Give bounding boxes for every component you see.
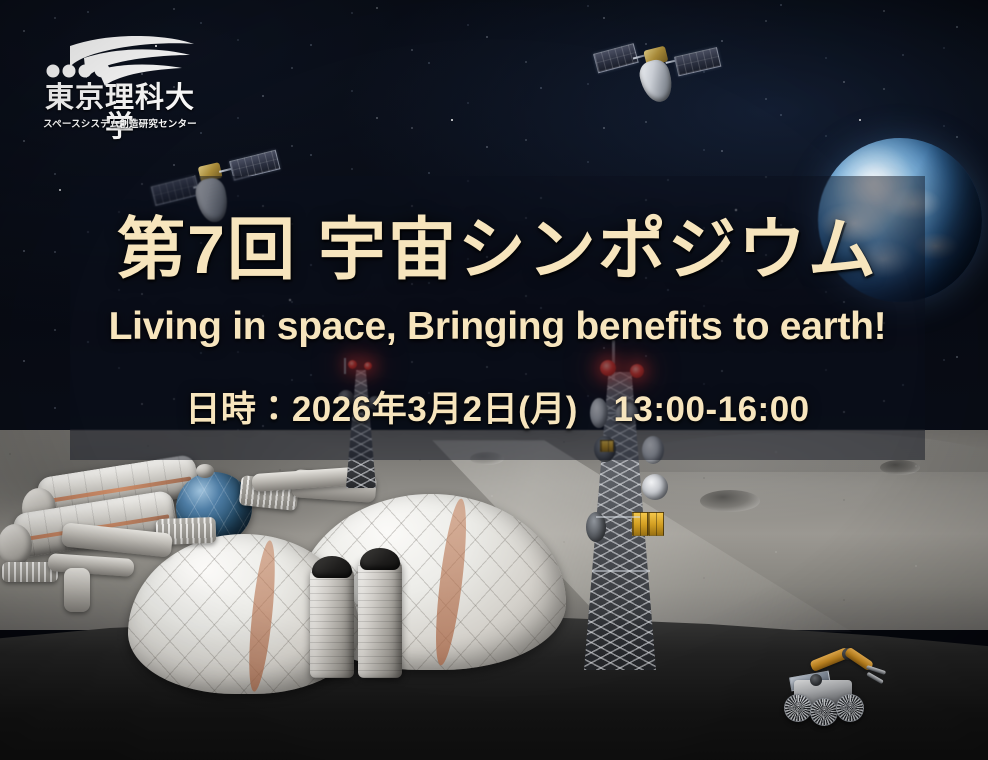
poster-canvas: 第7回 宇宙シンポジウム Living in space, Bringing b… [0, 0, 988, 760]
event-datetime: 日時：2026年3月2日(月) 13:00-16:00 [70, 381, 925, 432]
research-center-name: スペースシステム創造研究センター [38, 116, 202, 130]
robotic-rover [776, 636, 896, 736]
swoosh-icon [40, 34, 200, 86]
tagline: Living in space, Bringing benefits to ea… [70, 305, 925, 349]
university-logo: 東京理科大学 スペースシステム創造研究センター [38, 34, 202, 132]
gold-thermal-panel [648, 512, 664, 536]
tower-rail [596, 516, 640, 518]
rover-arm-joint [810, 674, 822, 686]
habitat-hatch [196, 464, 214, 478]
rover-wheel [836, 694, 864, 722]
tower-rail [592, 570, 650, 572]
support-leg [64, 568, 90, 612]
rover-wheel [810, 698, 838, 726]
page-title: 第7回 宇宙シンポジウム [70, 214, 925, 287]
module-end-cap [0, 524, 32, 566]
storage-tank [358, 558, 402, 678]
storage-tank [310, 566, 354, 678]
connecting-pipe [47, 553, 134, 577]
dish-antenna-icon [642, 474, 668, 500]
university-name: 東京理科大学 [38, 84, 202, 142]
rover-wheel [784, 694, 812, 722]
